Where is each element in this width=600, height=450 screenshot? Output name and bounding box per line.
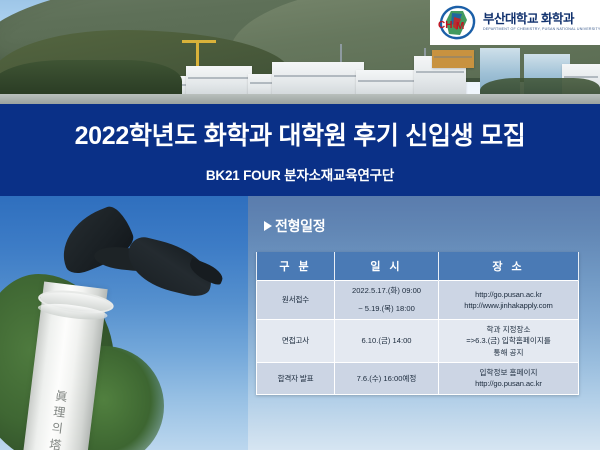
logo-org-name: 부산대학교 화학과	[483, 13, 600, 26]
campus-photo-banner: CH M 부산대학교 화학과 DEPARTMENT OF CHEMISTRY, …	[0, 0, 600, 104]
place-url: http://go.pusan.ac.kr	[441, 289, 576, 300]
university-logo-plate: CH M 부산대학교 화학과 DEPARTMENT OF CHEMISTRY, …	[430, 0, 600, 45]
schedule-table: 구 분 일 시 장 소 원서접수 2022.5.17.(화) 09:00 ~ 5…	[256, 252, 579, 395]
place-url: http://go.pusan.ac.kr	[441, 378, 576, 389]
place-line: 입학정보 홈페이지	[441, 367, 576, 378]
section-heading-label: 전형일정	[275, 216, 325, 236]
datetime-line: 6.10.(금) 14:00	[337, 335, 436, 346]
cell-division-interview: 면접고사	[257, 319, 335, 362]
cell-datetime-application: 2022.5.17.(화) 09:00 ~ 5.19.(목) 18:00	[335, 281, 439, 320]
title-band: 2022학년도 화학과 대학원 후기 신입생 모집 BK21 FOUR 분자소재…	[0, 104, 600, 196]
table-header-row: 구 분 일 시 장 소	[257, 252, 579, 281]
construction-crane-jib	[182, 40, 216, 43]
svg-text:M: M	[456, 21, 464, 32]
table-row: 원서접수 2022.5.17.(화) 09:00 ~ 5.19.(목) 18:0…	[257, 281, 579, 320]
column-header-place: 장 소	[439, 252, 579, 281]
campus-road	[0, 94, 600, 104]
pillar-inscription: 眞 理 의 塔	[38, 386, 80, 450]
content-area: 眞 理 의 塔 전형일정 구 분 일 시 장 소	[0, 196, 600, 450]
cell-datetime-interview: 6.10.(금) 14:00	[335, 319, 439, 362]
logo-text-block: 부산대학교 화학과 DEPARTMENT OF CHEMISTRY, PUSAN…	[483, 13, 600, 32]
cell-division-application: 원서접수	[257, 281, 335, 320]
place-line: 학과 지정장소	[441, 324, 576, 335]
logo-org-name-en: DEPARTMENT OF CHEMISTRY, PUSAN NATIONAL …	[483, 28, 600, 32]
table-row: 면접고사 6.10.(금) 14:00 학과 지정장소 =>6.3.(금) 입학…	[257, 319, 579, 362]
triangle-bullet-icon	[264, 221, 272, 231]
cell-datetime-results: 7.6.(수) 16:00예정	[335, 362, 439, 394]
datetime-line: ~ 5.19.(목) 18:00	[337, 303, 436, 314]
cell-division-results: 합격자 발표	[257, 362, 335, 394]
place-line: 통해 공지	[441, 347, 576, 358]
table-row: 합격자 발표 7.6.(수) 16:00예정 입학정보 홈페이지 http://…	[257, 362, 579, 394]
cell-place-interview: 학과 지정장소 =>6.3.(금) 입학홈페이지를 통해 공지	[439, 319, 579, 362]
section-heading: 전형일정	[264, 216, 325, 236]
place-url: http://www.jinhakapply.com	[441, 300, 576, 311]
cell-place-application: http://go.pusan.ac.kr http://www.jinhaka…	[439, 281, 579, 320]
cell-place-results: 입학정보 홈페이지 http://go.pusan.ac.kr	[439, 362, 579, 394]
svg-text:CH: CH	[438, 20, 452, 31]
place-line: =>6.3.(금) 입학홈페이지를	[441, 335, 576, 346]
chem-emblem-icon: CH M	[436, 4, 478, 42]
datetime-line: 7.6.(수) 16:00예정	[337, 373, 436, 384]
column-header-datetime: 일 시	[335, 252, 439, 281]
campus-building-4	[272, 62, 364, 98]
column-header-division: 구 분	[257, 252, 335, 281]
page-title: 2022학년도 화학과 대학원 후기 신입생 모집	[75, 116, 526, 152]
datetime-line: 2022.5.17.(화) 09:00	[337, 285, 436, 296]
monument-photo: 眞 理 의 塔	[0, 196, 248, 450]
page-subtitle: BK21 FOUR 분자소재교육연구단	[206, 164, 394, 184]
campus-building-7	[432, 50, 474, 68]
recruitment-poster: CH M 부산대학교 화학과 DEPARTMENT OF CHEMISTRY, …	[0, 0, 600, 450]
